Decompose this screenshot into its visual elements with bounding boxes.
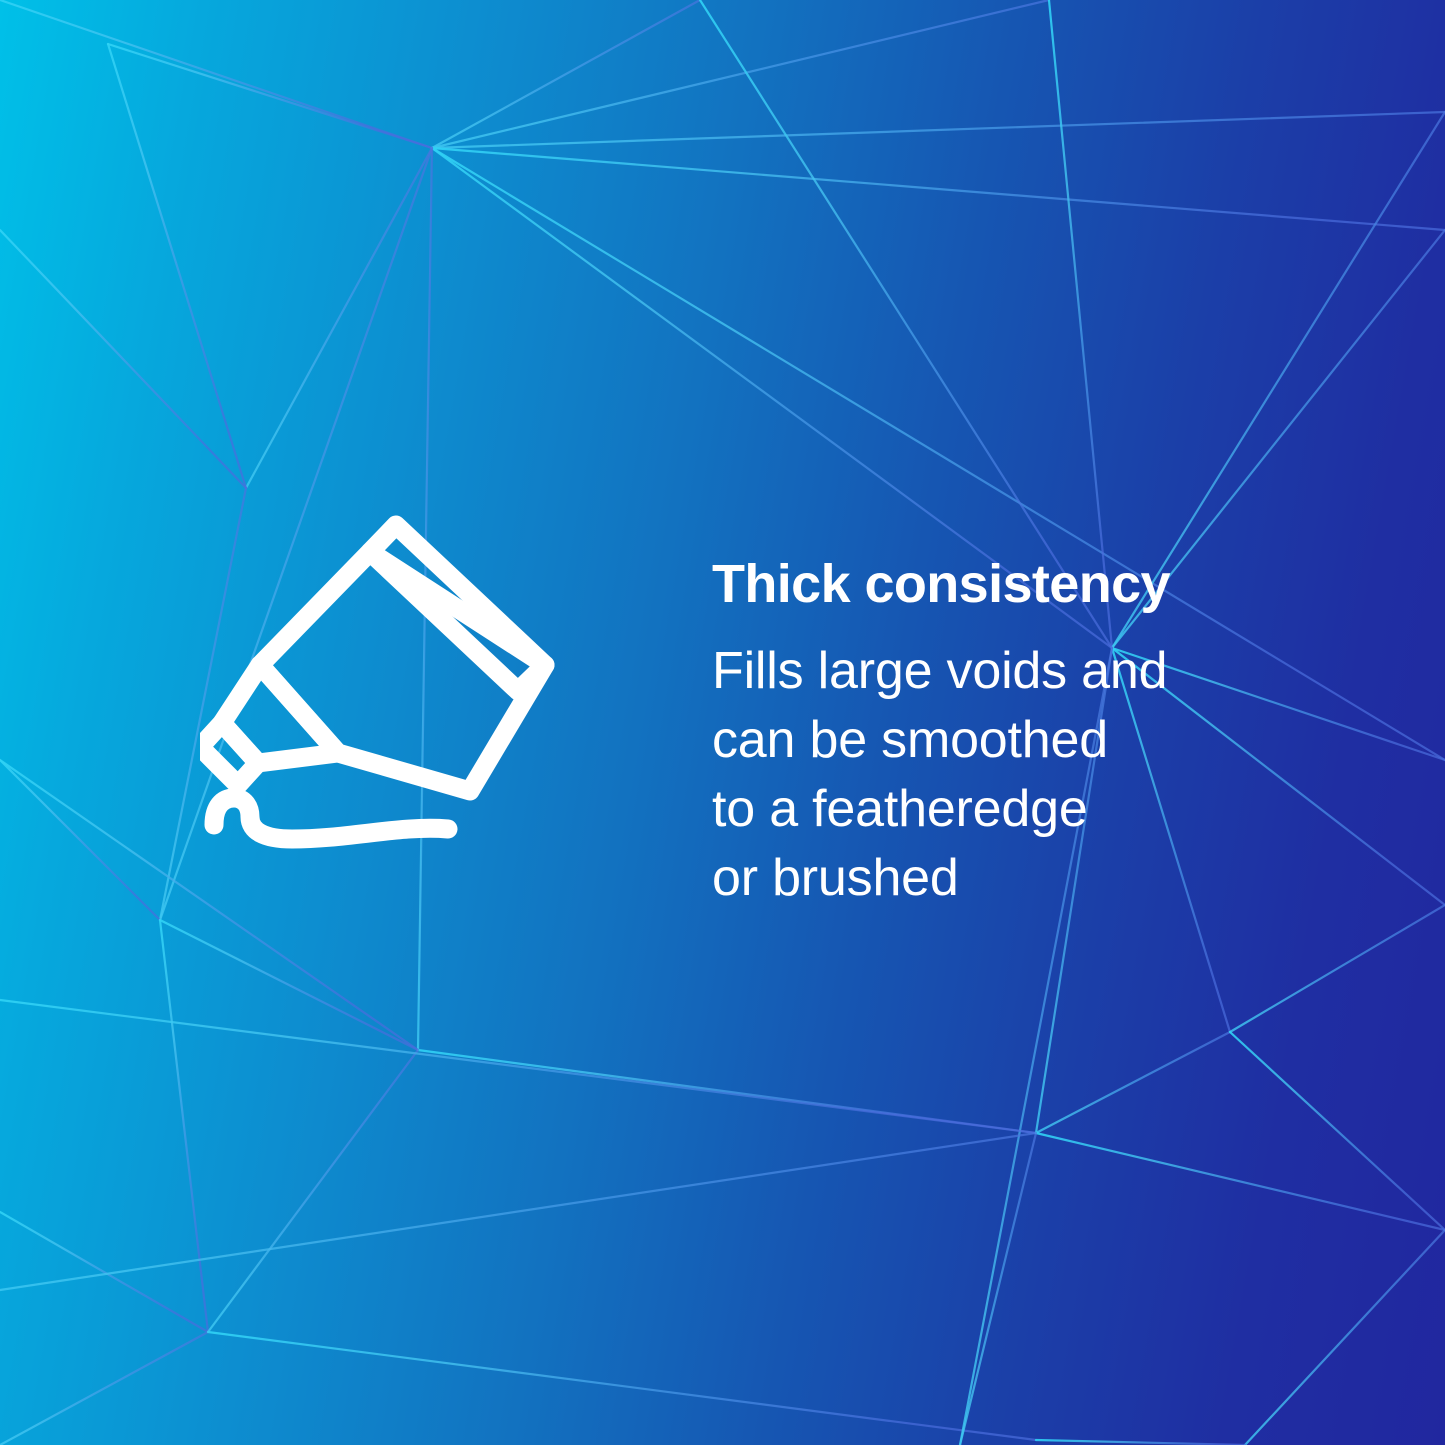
body-line: Fills large voids and <box>712 637 1252 706</box>
headline: Thick consistency <box>712 556 1252 613</box>
product-feature-card: Thick consistency Fills large voids and … <box>0 0 1445 1445</box>
body-line: to a featheredge <box>712 775 1252 844</box>
text-block: Thick consistency Fills large voids and … <box>712 556 1252 913</box>
extruded-bead <box>214 798 448 839</box>
tube-seam <box>260 665 338 753</box>
body-line: can be smoothed <box>712 706 1252 775</box>
tube-nozzle <box>200 723 258 785</box>
caulk-tube-icon <box>200 495 580 895</box>
body-line: or brushed <box>712 844 1252 913</box>
card-content: Thick consistency Fills large voids and … <box>0 0 1445 1445</box>
body-copy: Fills large voids and can be smoothed to… <box>712 613 1252 913</box>
